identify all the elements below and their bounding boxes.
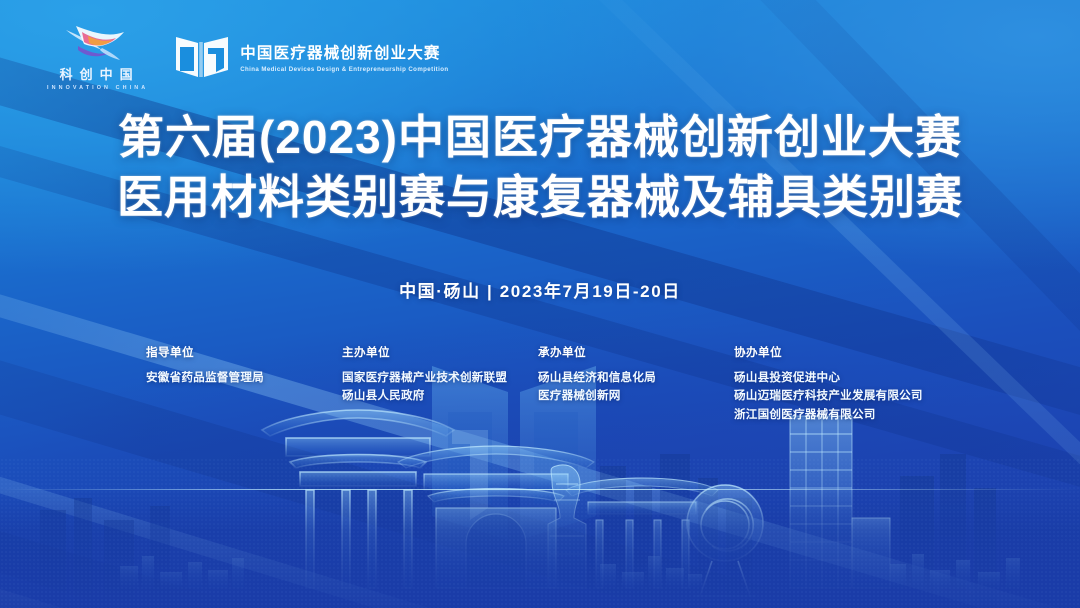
organizer-column-guidance: 指导单位 安徽省药品监督管理局 xyxy=(146,344,342,424)
title-line-1: 第六届(2023)中国医疗器械创新创业大赛 xyxy=(0,108,1080,168)
logo-innovation-china-en: INNOVATION CHINA xyxy=(44,85,148,91)
far-skyline xyxy=(40,454,996,608)
poster-title: 第六届(2023)中国医疗器械创新创业大赛 医用材料类别赛与康复器械及辅具类别赛 xyxy=(0,108,1080,228)
foreground-ground xyxy=(0,488,1080,608)
phoenix-wing-emblem-icon xyxy=(58,22,134,62)
logo-innovation-china: 科创中国 INNOVATION CHINA xyxy=(44,22,148,91)
pavilion xyxy=(566,478,718,588)
organizer-role-label: 承办单位 xyxy=(538,344,734,360)
open-book-door-emblem-icon xyxy=(174,34,230,80)
event-location-date: 中国·砀山 | 2023年7月19日-20日 xyxy=(0,277,1080,302)
organizer-column-undertaker: 承办单位 砀山县经济和信息化局 医疗器械创新网 xyxy=(538,344,734,424)
organizer-unit: 浙江国创医疗器械有限公司 xyxy=(734,406,954,424)
organizer-unit: 安徽省药品监督管理局 xyxy=(146,369,342,387)
logo-medical-competition-cn: 中国医疗器械创新创业大赛 xyxy=(240,41,448,63)
ground-dot-texture xyxy=(0,458,1080,608)
city-skyline-strip xyxy=(120,554,1020,588)
logo-medical-competition: 中国医疗器械创新创业大赛 China Medical Devices Desig… xyxy=(174,34,448,80)
organizer-unit: 国家医疗器械产业技术创新联盟 xyxy=(342,369,538,387)
organizer-role-label: 主办单位 xyxy=(342,344,538,360)
organizer-unit: 医疗器械创新网 xyxy=(538,387,734,405)
logo-medical-competition-en: China Medical Devices Design & Entrepren… xyxy=(240,66,448,73)
organizer-column-host: 主办单位 国家医疗器械产业技术创新联盟 砀山县人民政府 xyxy=(342,344,538,424)
organizer-unit: 砀山县投资促进中心 xyxy=(734,369,954,387)
stone-sculpture xyxy=(548,465,586,588)
organizer-unit: 砀山县人民政府 xyxy=(342,387,538,405)
event-poster: 科创中国 INNOVATION CHINA 中国医疗器械创新创业大赛 China… xyxy=(0,0,1080,608)
header-logos: 科创中国 INNOVATION CHINA 中国医疗器械创新创业大赛 China… xyxy=(44,22,449,91)
organizer-unit: 砀山迈瑞医疗科技产业发展有限公司 xyxy=(734,387,954,405)
logo-innovation-china-cn: 科创中国 xyxy=(53,64,140,83)
organizer-columns: 指导单位 安徽省药品监督管理局 主办单位 国家医疗器械产业技术创新联盟 砀山县人… xyxy=(146,344,954,424)
organizer-role-label: 协办单位 xyxy=(734,344,954,360)
background-light-streaks xyxy=(0,0,1080,608)
horizon-line xyxy=(0,489,1080,490)
ring-monument xyxy=(687,485,763,596)
title-line-2: 医用材料类别赛与康复器械及辅具类别赛 xyxy=(0,168,1080,228)
pagoda-gate xyxy=(398,446,594,588)
organizer-role-label: 指导单位 xyxy=(146,344,342,360)
modern-high-rise xyxy=(790,416,890,588)
paifang-archway xyxy=(262,410,454,588)
organizer-column-coorganizer: 协办单位 砀山县投资促进中心 砀山迈瑞医疗科技产业发展有限公司 浙江国创医疗器械… xyxy=(734,344,954,424)
organizer-unit: 砀山县经济和信息化局 xyxy=(538,369,734,387)
